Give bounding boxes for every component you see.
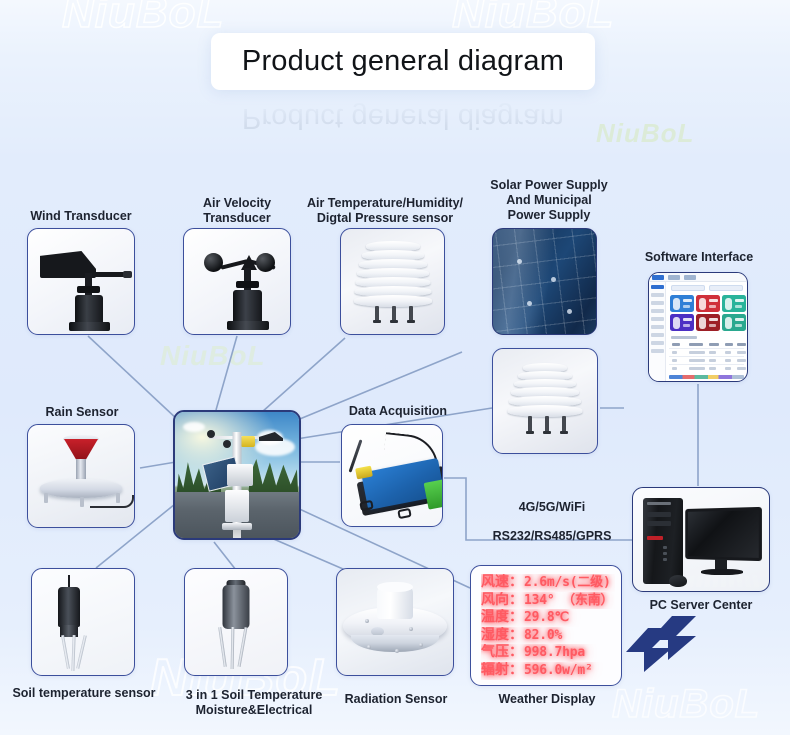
kpi-card (670, 295, 694, 312)
soil-probe-icon (31, 568, 135, 676)
led-row: 气压： 998.7hpa (481, 644, 615, 662)
kpi-card (670, 314, 694, 331)
desktop-computer-icon (632, 487, 770, 592)
radiation-shield-icon (492, 348, 598, 454)
connection-label-wired: RS232/RS485/GPRS (474, 529, 630, 543)
led-label: 温度： (481, 609, 523, 627)
led-value: 82.0% (524, 627, 562, 645)
kpi-card (696, 314, 720, 331)
node-label: Soil temperature sensor (6, 686, 162, 701)
led-row: 湿度： 82.0% (481, 627, 615, 645)
weather-station-icon (173, 410, 301, 540)
pyranometer-icon (336, 568, 454, 676)
connection-label-wireless: 4G/5G/WiFi (486, 500, 618, 514)
wireless-signal-arrows-icon (624, 612, 734, 682)
kpi-card (722, 295, 746, 312)
led-row: 风向： 134° （东南） (481, 592, 615, 610)
led-display-icon: 风速： 2.6m/s(二级) 风向： 134° （东南） 温度： 29.8℃ 湿… (470, 565, 622, 686)
node-label: Air Temperature/Humidity/ Digtal Pressur… (306, 196, 464, 226)
led-row: 温度： 29.8℃ (481, 609, 615, 627)
led-readings-list: 风速： 2.6m/s(二级) 风向： 134° （东南） 温度： 29.8℃ 湿… (481, 574, 615, 680)
led-value: 998.7hpa (524, 644, 585, 662)
led-label: 风速： (481, 574, 523, 592)
led-row: 风速： 2.6m/s(二级) (481, 574, 615, 592)
node-label: Weather Display (472, 692, 622, 707)
soil-3in1-icon (184, 568, 288, 676)
kpi-card (696, 295, 720, 312)
node-label: Radiation Sensor (330, 692, 462, 707)
led-label: 辐射： (481, 662, 523, 680)
kpi-card (722, 314, 746, 331)
node-label: PC Server Center (630, 598, 772, 613)
node-label: Rain Sensor (10, 405, 154, 420)
led-label: 风向： (481, 592, 523, 610)
led-value: 2.6m/s(二级) (524, 574, 611, 592)
node-label: Wind Transducer (6, 209, 156, 224)
node-label: Software Interface (628, 250, 770, 265)
led-label: 气压： (481, 644, 523, 662)
radiation-shield-icon (340, 228, 445, 335)
led-value: 596.0w/m² (524, 662, 593, 680)
dtu-box-icon (341, 424, 443, 527)
rain-gauge-icon (27, 424, 135, 528)
solar-panel-icon (492, 228, 597, 335)
node-label: Data Acquisition (330, 404, 466, 419)
led-label: 湿度： (481, 627, 523, 645)
node-label: Air Velocity Transducer (162, 196, 312, 226)
node-label: 3 in 1 Soil Temperature Moisture&Electri… (168, 688, 340, 718)
wind-vane-icon (27, 228, 135, 335)
anemometer-icon (183, 228, 291, 335)
node-label: Solar Power Supply And Municipal Power S… (470, 178, 628, 222)
led-value: 29.8℃ (524, 609, 569, 627)
led-value: 134° （东南） (524, 592, 613, 610)
product-diagram-canvas: NiuBoL NiuBoL NiuBoL NiuBoL NiuBoL NiuBo… (0, 0, 790, 735)
dashboard-icon (648, 272, 748, 382)
led-row: 辐射： 596.0w/m² (481, 662, 615, 680)
